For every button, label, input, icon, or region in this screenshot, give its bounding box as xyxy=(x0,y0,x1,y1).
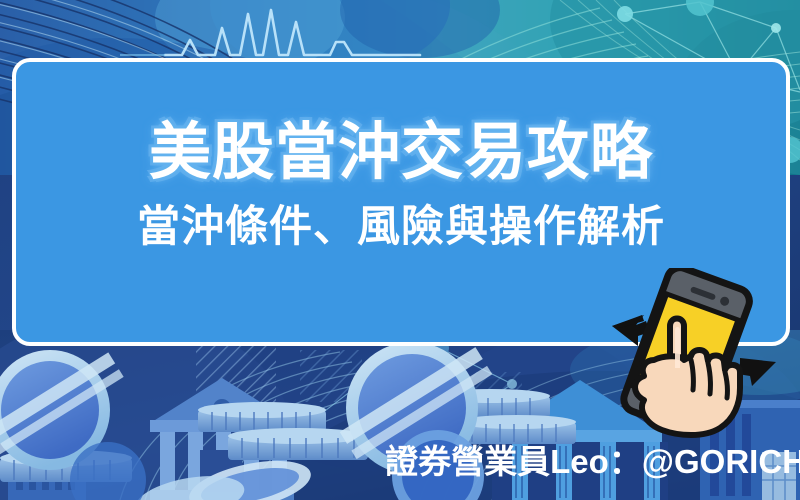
page-subtitle: 當沖條件、風險與操作解析 xyxy=(16,202,786,252)
page-title: 美股當沖交易攻略 xyxy=(16,118,786,188)
promo-banner: 美股當沖交易攻略 當沖條件、風險與操作解析 xyxy=(0,0,800,500)
arrow-right-icon xyxy=(738,358,776,386)
headline-block: 美股當沖交易攻略 當沖條件、風險與操作解析 xyxy=(16,118,786,252)
phone-tap-illustration xyxy=(592,268,800,453)
